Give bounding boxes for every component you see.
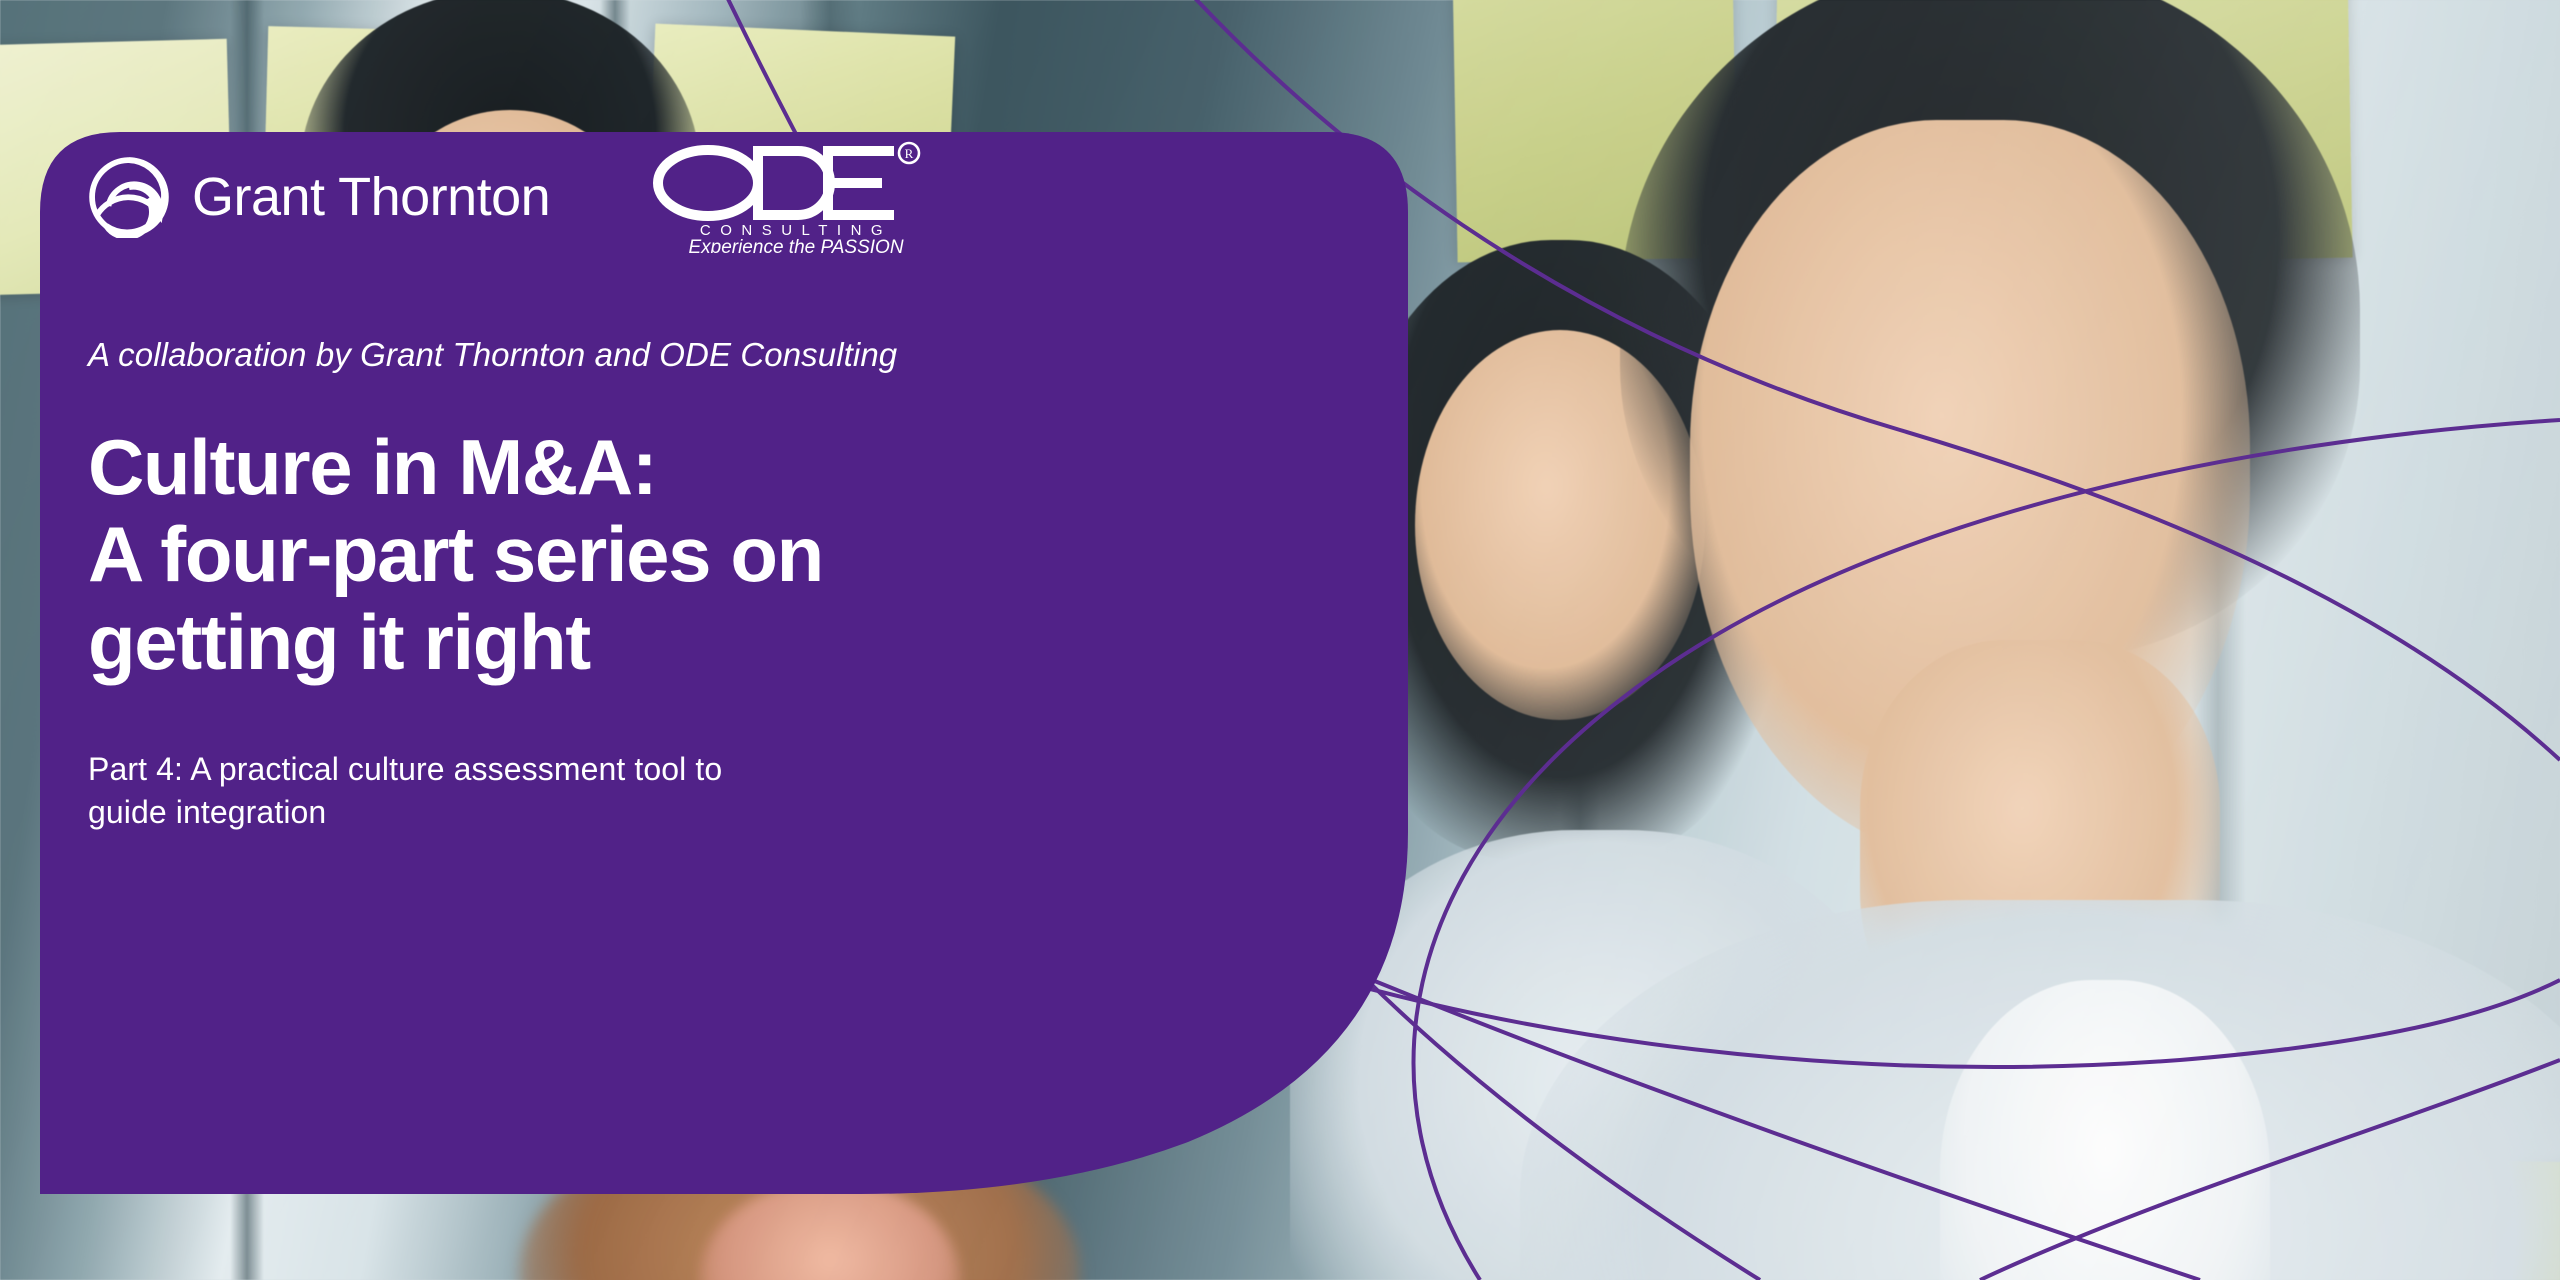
logo-row: Grant Thornton R CONSULTI [40, 132, 1408, 262]
svg-text:R: R [905, 146, 914, 161]
headline-line-1: Culture in M&A: [88, 424, 1408, 511]
purple-content-card: Grant Thornton R CONSULTI [40, 132, 1408, 1194]
ode-letter-o [658, 150, 758, 216]
grant-thornton-logo: Grant Thornton [88, 156, 550, 238]
headline-line-3: getting it right [88, 599, 1408, 686]
part-subtitle: Part 4: A practical culture assessment t… [88, 748, 1408, 834]
headline-line-2: A four-part series on [88, 511, 1408, 598]
marketing-banner: Grant Thornton R CONSULTI [0, 0, 2560, 1280]
collaboration-eyebrow: A collaboration by Grant Thornton and OD… [88, 336, 1408, 374]
grant-thornton-wordmark: Grant Thornton [192, 166, 550, 228]
grant-thornton-swirl-icon [88, 156, 170, 238]
card-content: Grant Thornton R CONSULTI [40, 132, 1408, 834]
ode-registered-icon: R [899, 143, 919, 163]
subline-line-2: guide integration [88, 791, 1408, 834]
ode-consulting-logo: R CONSULTING Experience the PASSION [646, 141, 946, 253]
subline-line-1: Part 4: A practical culture assessment t… [88, 748, 1408, 791]
page-title: Culture in M&A: A four-part series on ge… [88, 424, 1408, 686]
ode-letter-d [758, 151, 830, 215]
ode-tagline: Experience the PASSION [689, 237, 904, 253]
card-text-block: A collaboration by Grant Thornton and OD… [40, 262, 1408, 834]
